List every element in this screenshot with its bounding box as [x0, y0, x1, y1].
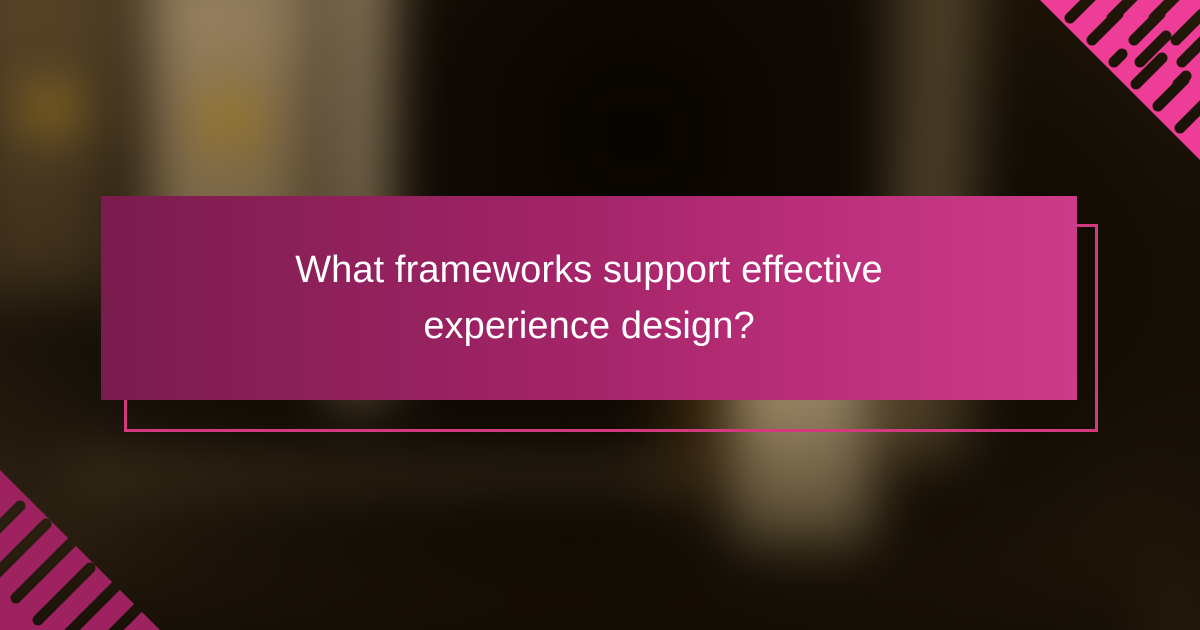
question-text: What frameworks support effective experi… [269, 242, 909, 354]
table-surface [70, 460, 710, 500]
wall-medallion-left [22, 80, 80, 138]
question-banner: What frameworks support effective experi… [101, 196, 1077, 400]
banner-canvas: What frameworks support effective experi… [0, 0, 1200, 630]
floor-shadow [0, 520, 1140, 630]
wall-medallion-center [198, 88, 260, 150]
